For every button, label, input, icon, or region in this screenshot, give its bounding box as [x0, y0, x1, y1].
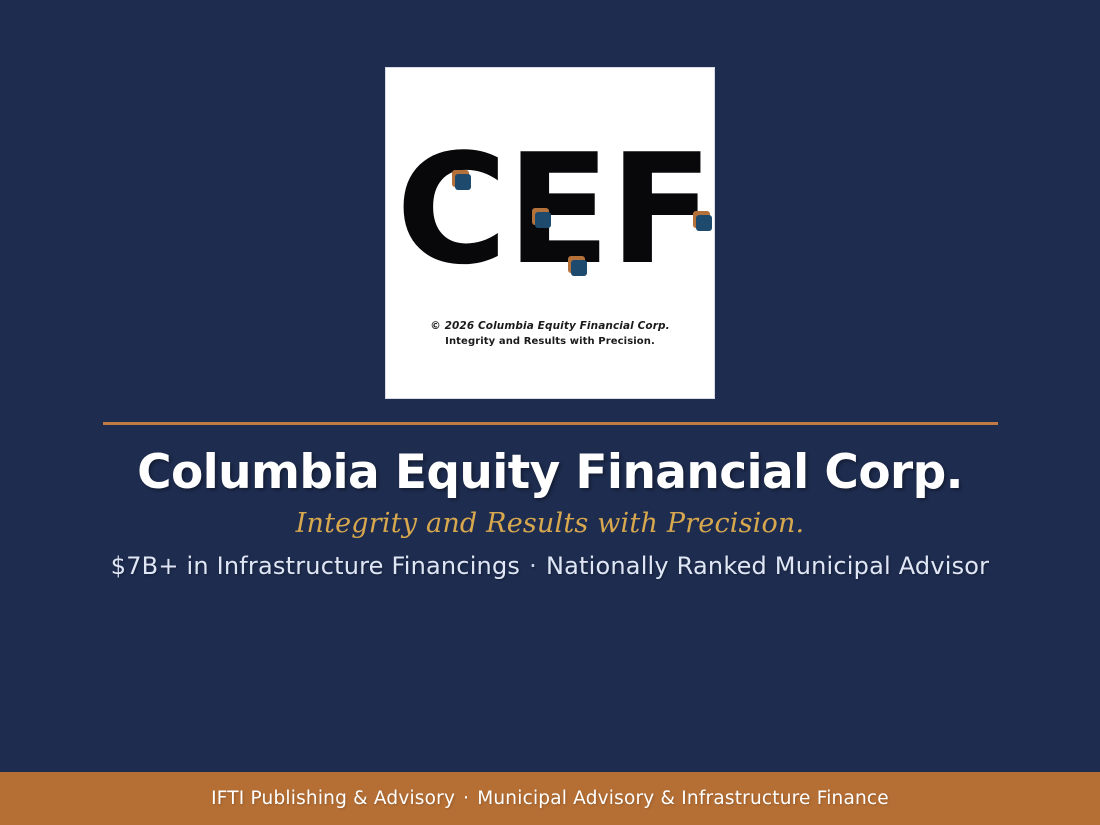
- footer-publisher: IFTI Publishing & Advisory: [211, 788, 455, 809]
- credential-ranking: Nationally Ranked Municipal Advisor: [546, 552, 989, 580]
- accent-square-navy: [696, 215, 712, 231]
- accent-square-4-icon: [693, 211, 713, 231]
- company-logo-mark: CEFc: [386, 126, 715, 306]
- logo-copyright-line: © 2026 Columbia Equity Financial Corp.: [386, 320, 714, 332]
- logo-card: CEFc © 2026 Columbia Equity Financial Co…: [385, 67, 715, 399]
- footer-band: IFTI Publishing & Advisory·Municipal Adv…: [0, 772, 1100, 825]
- title-slide: CEFc © 2026 Columbia Equity Financial Co…: [0, 0, 1100, 825]
- footer-separator: ·: [455, 788, 477, 809]
- accent-square-navy: [455, 174, 471, 190]
- company-tagline: Integrity and Results with Precision.: [0, 505, 1100, 543]
- section-divider: [103, 422, 998, 425]
- logo-caption: © 2026 Columbia Equity Financial Corp. I…: [386, 320, 714, 347]
- footer-practice: Municipal Advisory & Infrastructure Fina…: [477, 788, 889, 809]
- credentials-line: $7B+ in Infrastructure Financings·Nation…: [0, 549, 1100, 583]
- credentials-separator: ·: [520, 552, 546, 580]
- accent-square-2-icon: [532, 208, 552, 228]
- credential-financings: $7B+ in Infrastructure Financings: [111, 552, 520, 580]
- page-title: Columbia Equity Financial Corp.: [0, 443, 1100, 503]
- accent-square-3-icon: [568, 256, 588, 276]
- footer-text: IFTI Publishing & Advisory·Municipal Adv…: [211, 788, 889, 809]
- headline-block: Columbia Equity Financial Corp. Integrit…: [0, 443, 1100, 583]
- logo-wordmark: CEFc: [396, 126, 715, 306]
- accent-square-1-icon: [452, 170, 472, 190]
- logo-tagline-line: Integrity and Results with Precision.: [386, 336, 714, 347]
- accent-square-navy: [571, 260, 587, 276]
- accent-square-navy: [535, 212, 551, 228]
